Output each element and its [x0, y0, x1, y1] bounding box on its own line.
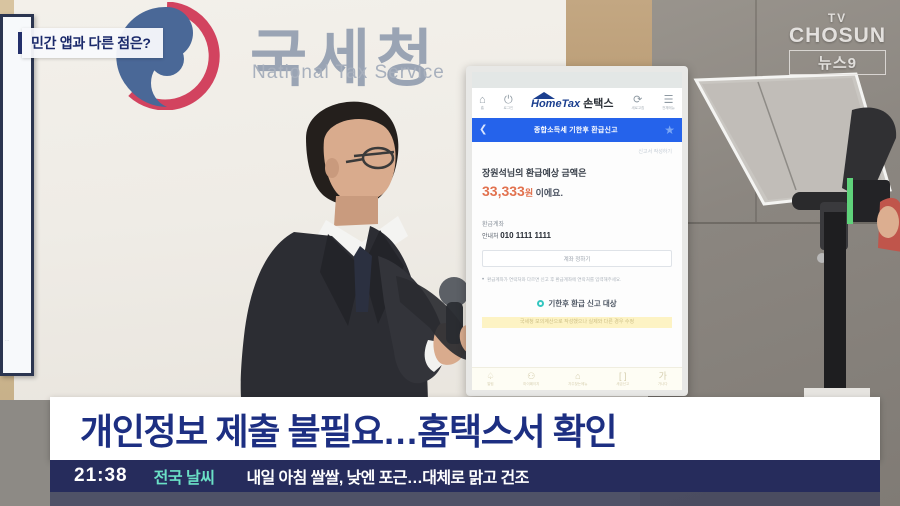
ticker-category: 전국 날씨: [154, 464, 215, 488]
account-section-label: 환급계좌: [482, 219, 672, 228]
broadcast-screenshot: ··· 국세청 National Tax Service: [0, 0, 900, 506]
nav-label-2: 자주찾는메뉴: [568, 383, 587, 387]
left-panel-text: ···: [5, 338, 35, 343]
refund-amount-unit: 원: [525, 188, 533, 198]
refund-amount-number: 33,333: [482, 183, 525, 199]
app-header: ⌂ 홈 ⏻ 로그인 HomeTax 손택스 ⟳ 새로고침 ☰ 전체메뉴: [472, 88, 682, 118]
ticker-text: 내일 아침 쌀쌀, 낮엔 포근…대체로 맑고 건조: [246, 464, 528, 488]
topic-caption-text: 민간 앱과 다른 점은?: [31, 33, 151, 53]
menu-label: 전체메뉴: [662, 107, 675, 111]
hometax-kiosk[interactable]: ⌂ 홈 ⏻ 로그인 HomeTax 손택스 ⟳ 새로고침 ☰ 전체메뉴 ❮: [466, 66, 688, 396]
speaker-person: [228, 96, 496, 406]
eligibility-label: 기한후 환급 신고 대상: [548, 298, 616, 309]
page-titlebar: ❮ 종합소득세 기한후 환급신고 ★: [472, 118, 682, 142]
refund-amount-suffix: 이에요.: [533, 188, 563, 198]
person-icon[interactable]: ⚇ 마이페이지: [523, 372, 539, 387]
brackets-icon[interactable]: [ ] 세금신고: [616, 372, 629, 387]
nav-label-4: 가나다: [658, 383, 668, 387]
home-label: 홈: [479, 107, 486, 111]
refund-amount: 33,333원 이에요.: [482, 183, 672, 201]
ticker-shadow: [50, 492, 880, 506]
set-account-button[interactable]: 계좌 정하기: [482, 250, 672, 267]
topic-caption: 민간 앱과 다른 점은?: [22, 28, 163, 58]
bottom-nav[interactable]: ♤ 알림 ⚇ 마이페이지 ⌂ 자주찾는메뉴 [ ] 세금신고 가 가나다: [472, 367, 682, 390]
home-icon[interactable]: ⌂ 홈: [479, 95, 486, 111]
hamburger-menu-icon[interactable]: ☰ 전체메뉴: [662, 95, 675, 111]
program-badge: 뉴스9: [789, 50, 886, 75]
text-size-icon[interactable]: 가 가나다: [658, 372, 668, 387]
account-number: 010 1111 1111: [500, 231, 551, 240]
nav-label-0: 알림: [486, 383, 494, 387]
agency-name-english: National Tax Service: [252, 62, 445, 84]
sontax-wordmark: 손택스: [583, 95, 613, 111]
network-logo-line1: TV: [789, 12, 886, 25]
refund-greeting: 장원석님의 환급예상 금액은: [482, 166, 672, 179]
kiosk-screen[interactable]: ⌂ 홈 ⏻ 로그인 HomeTax 손택스 ⟳ 새로고침 ☰ 전체메뉴 ❮: [472, 72, 682, 390]
highlight-notice: 국세청 모의계산으로 작성했으나 실제와 다른 경우 수정: [482, 317, 672, 328]
bullet-icon: •: [482, 277, 484, 284]
hometax-brand-logo: HomeTax 손택스: [531, 95, 613, 111]
ghost-label: 신고서 작성하기: [638, 148, 672, 155]
news-ticker: 21:38 전국 날씨 내일 아침 쌀쌀, 낮엔 포근…대체로 맑고 건조: [50, 460, 880, 492]
studio-light-stand: [692, 62, 900, 406]
page-body: 신고서 작성하기 장원석님의 환급예상 금액은 33,333원 이에요. 환급계…: [472, 142, 682, 336]
star-icon[interactable]: ★: [664, 123, 675, 137]
power-label: 로그인: [504, 107, 514, 111]
info-note-text: 환급계좌가 연락처와 다르면 신고 후 환급계좌에 연락처를 입력해주세요.: [487, 277, 621, 284]
caption-accent-bar: [18, 32, 22, 54]
hometax-wordmark: HomeTax: [531, 98, 580, 110]
network-logo-line2: CHOSUN: [789, 25, 886, 46]
network-logo: TV CHOSUN 뉴스9: [789, 12, 886, 75]
chevron-left-icon[interactable]: ❮: [479, 125, 487, 135]
page-title: 종합소득세 기한후 환급신고: [534, 125, 618, 135]
eligibility-row: 기한후 환급 신고 대상: [482, 298, 672, 309]
account-bank-label: 안내처: [482, 234, 499, 240]
target-dot-icon: [537, 300, 544, 307]
power-icon[interactable]: ⏻ 로그인: [504, 95, 514, 111]
kiosk-status-band: [472, 72, 682, 88]
headline-text: 개인정보 제출 불필요…홈택스서 확인: [50, 403, 616, 455]
refresh-label: 새로고침: [631, 107, 644, 111]
nav-label-1: 마이페이지: [523, 383, 539, 387]
agency-name-korean: 국세청: [250, 8, 439, 98]
info-note: • 환급계좌가 연락처와 다르면 신고 후 환급계좌에 연락처를 입력해주세요.: [482, 277, 672, 284]
account-row: 안내처 010 1111 1111: [482, 231, 672, 240]
nav-label-3: 세금신고: [616, 383, 629, 387]
home-outline-icon[interactable]: ⌂ 자주찾는메뉴: [568, 372, 587, 387]
refresh-icon[interactable]: ⟳ 새로고침: [631, 95, 644, 111]
ticker-time: 21:38: [74, 465, 128, 487]
bell-icon[interactable]: ♤ 알림: [486, 372, 494, 387]
left-display-panel: ···: [0, 14, 34, 376]
headline-banner: 개인정보 제출 불필요…홈택스서 확인: [50, 397, 880, 460]
